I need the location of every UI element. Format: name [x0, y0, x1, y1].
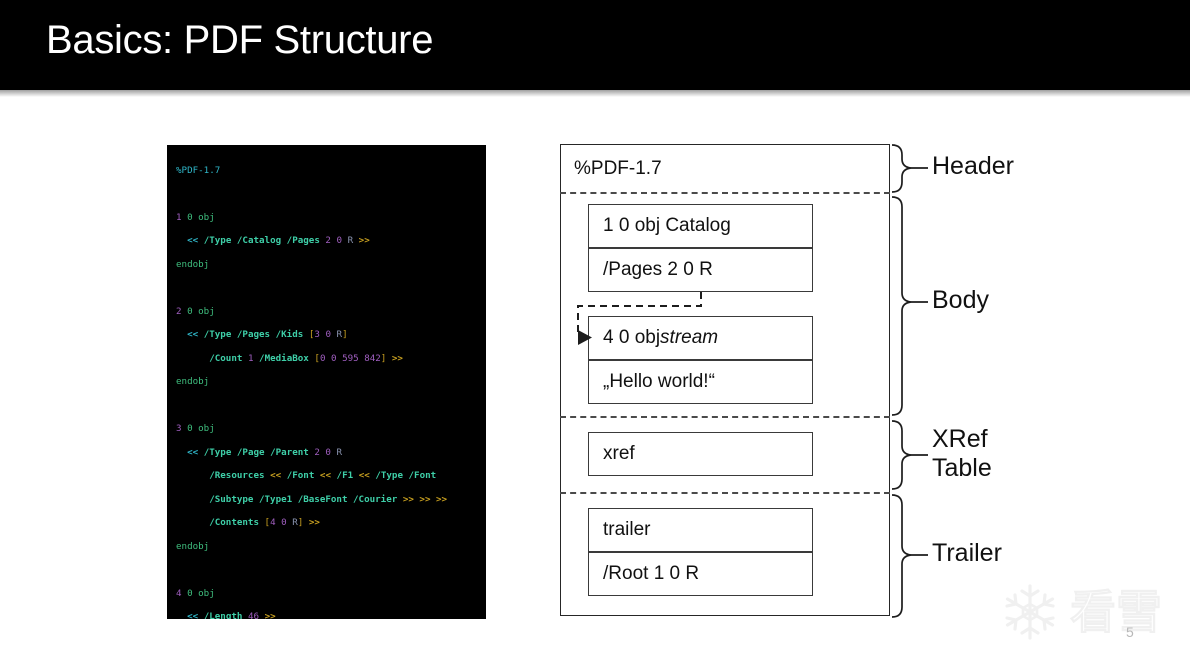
- code-line: << /Type /Page /Parent 2 0 R: [176, 447, 486, 459]
- body-box-stream-keyword: stream: [660, 327, 718, 349]
- code-line: 1 0 obj: [176, 212, 486, 224]
- separator-body-xref: [560, 416, 890, 418]
- xref-box: xref: [588, 432, 813, 476]
- code-line: endobj: [176, 376, 486, 388]
- code-line: [176, 282, 486, 294]
- body-box-catalog: 1 0 obj Catalog: [588, 204, 813, 248]
- brace-label-xref-line2: Table: [932, 454, 992, 483]
- code-line: [176, 564, 486, 576]
- code-line: endobj: [176, 259, 486, 271]
- watermark-text: 看雪: [1070, 585, 1162, 639]
- brace-trailer: [892, 495, 911, 617]
- body-box-pages: /Pages 2 0 R: [588, 248, 813, 292]
- code-line: << /Type /Catalog /Pages 2 0 R >>: [176, 235, 486, 247]
- separator-xref-trailer: [560, 492, 890, 494]
- section-braces: Header Body XRef Table Trailer: [888, 138, 1018, 624]
- separator-header-body: [560, 192, 890, 194]
- code-line: /Count 1 /MediaBox [0 0 595 842] >>: [176, 353, 486, 365]
- pdf-code-listing-panel: %PDF-1.7 1 0 obj << /Type /Catalog /Page…: [167, 145, 486, 619]
- code-line: 2 0 obj: [176, 306, 486, 318]
- brace-header: [892, 145, 911, 192]
- pdf-structure-diagram: %PDF-1.7 1 0 obj Catalog /Pages 2 0 R 4 …: [560, 144, 890, 616]
- code-line: << /Type /Pages /Kids [3 0 R]: [176, 329, 486, 341]
- brace-label-trailer: Trailer: [932, 539, 1002, 568]
- brace-label-header: Header: [932, 152, 1014, 181]
- code-line: /Contents [4 0 R] >>: [176, 517, 486, 529]
- brace-xref: [892, 421, 911, 489]
- page-number: 5: [1126, 624, 1134, 640]
- title-bar: Basics: PDF Structure: [0, 0, 1190, 90]
- trailer-box: trailer: [588, 508, 813, 552]
- code-line: /Resources << /Font << /F1 << /Type /Fon…: [176, 470, 486, 482]
- snowflake-icon: [1007, 586, 1053, 638]
- body-box-stream: 4 0 obj stream: [588, 316, 813, 360]
- brace-label-xref: XRef Table: [932, 425, 992, 483]
- trailer-box-root: /Root 1 0 R: [588, 552, 813, 596]
- page-title: Basics: PDF Structure: [46, 18, 433, 63]
- diagram-header-label: %PDF-1.7: [574, 158, 662, 180]
- brace-label-body: Body: [932, 286, 989, 315]
- code-line: 4 0 obj: [176, 588, 486, 600]
- pdf-code-listing: %PDF-1.7 1 0 obj << /Type /Catalog /Page…: [176, 153, 486, 619]
- code-line: [176, 188, 486, 200]
- code-line: 3 0 obj: [176, 423, 486, 435]
- code-line: %PDF-1.7: [176, 165, 486, 177]
- brace-body: [892, 197, 911, 415]
- watermark: 看雪: [1000, 582, 1180, 644]
- brace-label-xref-line1: XRef: [932, 425, 992, 454]
- title-bar-shadow: [0, 90, 1190, 97]
- code-line: endobj: [176, 541, 486, 553]
- code-line: [176, 400, 486, 412]
- code-line: << /Length 46 >>: [176, 611, 486, 619]
- body-box-stream-prefix: 4 0 obj: [603, 327, 660, 349]
- slide: Basics: PDF Structure %PDF-1.7 1 0 obj <…: [0, 0, 1190, 662]
- body-box-hello-world: „Hello world!“: [588, 360, 813, 404]
- watermark-svg: 看雪: [1000, 582, 1180, 644]
- code-line: /Subtype /Type1 /BaseFont /Courier >> >>…: [176, 494, 486, 506]
